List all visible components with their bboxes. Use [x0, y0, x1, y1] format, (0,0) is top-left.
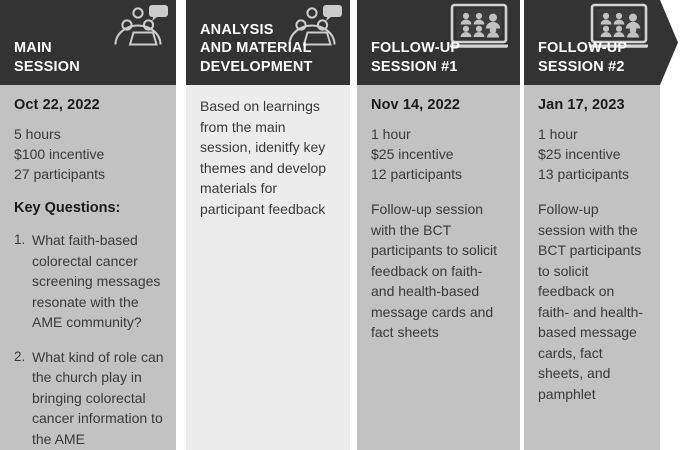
key-questions-list: 1. What faith-based colorectal cancer sc…	[14, 230, 164, 450]
panel-body-follow-up-1: Nov 14, 2022 1 hour $25 incentive 12 par…	[357, 85, 520, 450]
panel-body-main-session: Oct 22, 2022 5 hours $100 incentive 27 p…	[0, 85, 176, 450]
list-item-text: What kind of role can the church play in…	[32, 349, 164, 450]
panel-description: Follow-up session with the BCT participa…	[538, 199, 648, 404]
process-timeline-diagram: MAIN SESSION Oct 22, 2022 5 hours $100 i…	[0, 0, 690, 450]
panel-title: FOLLOW-UP SESSION #2	[538, 39, 627, 76]
panel-title: ANALYSIS AND MATERIAL DEVELOPMENT	[200, 21, 313, 77]
panel-title: FOLLOW-UP SESSION #1	[371, 39, 460, 76]
list-item-number: 1.	[14, 230, 25, 251]
list-item-number: 2.	[14, 347, 25, 368]
key-questions-heading: Key Questions:	[14, 199, 164, 218]
session-date: Oct 22, 2022	[14, 96, 164, 115]
panel-body-follow-up-2: Jan 17, 2023 1 hour $25 incentive 13 par…	[524, 85, 660, 450]
panel-description: Based on learnings from the main session…	[200, 96, 338, 219]
panel-follow-up-session-2: FOLLOW-UP SESSION #2 Jan 17, 2023 1 hour…	[524, 0, 660, 450]
panel-description: Follow-up session with the BCT participa…	[371, 199, 508, 343]
panel-header-follow-up-1: FOLLOW-UP SESSION #1	[357, 0, 520, 85]
panel-body-analysis: Based on learnings from the main session…	[186, 85, 350, 450]
session-date: Jan 17, 2023	[538, 96, 648, 115]
panel-analysis-and-material-development: ANALYSIS AND MATERIAL DEVELOPMENT Based …	[186, 0, 350, 450]
session-facts: 1 hour $25 incentive 12 participants	[371, 124, 508, 184]
panel-header-analysis: ANALYSIS AND MATERIAL DEVELOPMENT	[186, 0, 350, 85]
list-item-text: What faith-based colorectal cancer scree…	[32, 232, 160, 330]
group-discussion-icon	[112, 3, 168, 49]
list-item: 2. What kind of role can the church play…	[14, 347, 164, 450]
panel-header-main-session: MAIN SESSION	[0, 0, 176, 85]
session-facts: 1 hour $25 incentive 13 participants	[538, 124, 648, 184]
process-arrow-head-icon	[660, 0, 678, 85]
session-date: Nov 14, 2022	[371, 96, 508, 115]
panel-header-follow-up-2: FOLLOW-UP SESSION #2	[524, 0, 660, 85]
panel-title: MAIN SESSION	[14, 39, 80, 76]
panel-follow-up-session-1: FOLLOW-UP SESSION #1 Nov 14, 2022 1 hour…	[357, 0, 520, 450]
list-item: 1. What faith-based colorectal cancer sc…	[14, 230, 164, 333]
session-facts: 5 hours $100 incentive 27 participants	[14, 124, 164, 184]
panel-main-session: MAIN SESSION Oct 22, 2022 5 hours $100 i…	[0, 0, 176, 450]
